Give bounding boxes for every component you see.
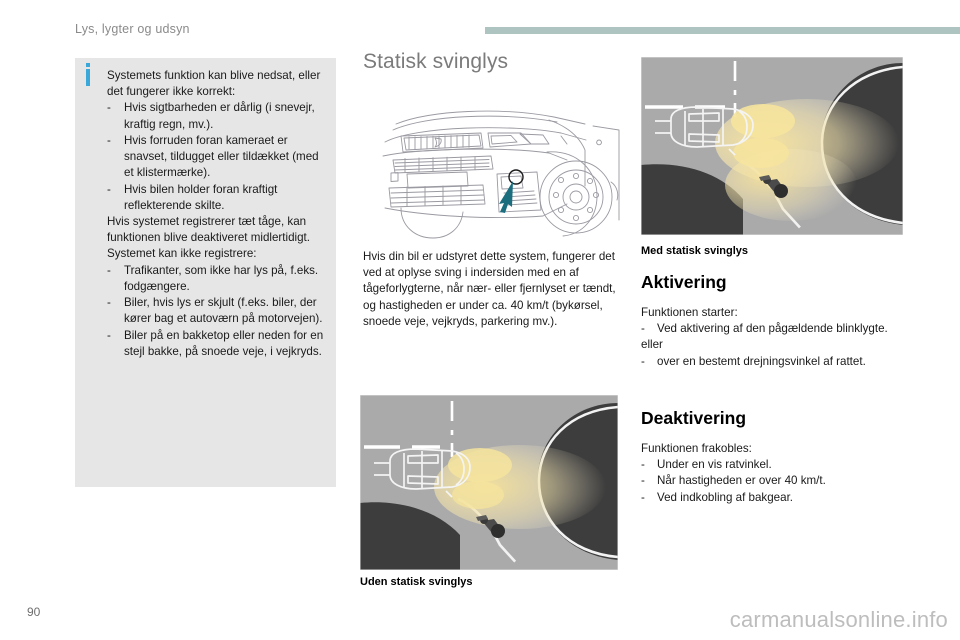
aktivering-connector: eller — [641, 337, 931, 353]
bullet-dash: - — [107, 263, 124, 295]
figure-caption-uden: Uden statisk svinglys — [360, 576, 473, 588]
list-item-label: Trafikanter, som ikke har lys på, f.eks.… — [124, 263, 324, 295]
middle-paragraph: Hvis din bil er udstyret dette system, f… — [363, 249, 621, 330]
bullet-dash: - — [641, 457, 657, 473]
deaktivering-intro: Funktionen frakobles: — [641, 441, 931, 457]
bullet-dash: - — [107, 100, 124, 132]
bullet-dash: - — [641, 321, 657, 337]
bullet-dash: - — [107, 295, 124, 327]
chapter-title: Lys, lygter og udsyn — [75, 22, 190, 36]
deaktivering-body: Funktionen frakobles: - Under en vis rat… — [641, 441, 931, 506]
info-note-text: Systemets funktion kan blive nedsat, ell… — [107, 68, 324, 360]
list-item-label: Hvis bilen holder foran kraftigt reflekt… — [124, 182, 324, 214]
list-item-label: Hvis forruden foran kameraet er snavset,… — [124, 133, 324, 182]
heading-aktivering: Aktivering — [641, 272, 727, 293]
list-item: - Under en vis ratvinkel. — [641, 457, 931, 473]
car-front-line-drawing-icon — [371, 100, 621, 240]
info-icon-dot — [86, 63, 90, 67]
list-item: - Biler på en bakketop eller neden for e… — [107, 328, 324, 360]
list-item-label: Når hastigheden er over 40 km/t. — [657, 473, 931, 489]
list-item-label: Ved aktivering af den pågældende blinkly… — [657, 321, 931, 337]
figure-uden-statisk-svinglys — [360, 395, 618, 570]
bullet-dash: - — [641, 354, 657, 370]
bullet-dash: - — [107, 182, 124, 214]
list-item: - Ved indkobling af bakgear. — [641, 490, 931, 506]
list-item: - Hvis forruden foran kameraet er snavse… — [107, 133, 324, 182]
list-item: - Ved aktivering af den pågældende blink… — [641, 321, 931, 337]
list-item-label: Biler, hvis lys er skjult (f.eks. biler,… — [124, 295, 324, 327]
page-number: 90 — [27, 605, 40, 619]
figure-caption-med: Med statisk svinglys — [641, 245, 748, 257]
list-item-label: Under en vis ratvinkel. — [657, 457, 931, 473]
overhead-road-scene-without-cornering-light-icon — [360, 395, 618, 570]
aktivering-intro: Funktionen starter: — [641, 305, 931, 321]
heading-deaktivering: Deaktivering — [641, 408, 746, 429]
list-item: - Hvis sigtbarheden er dårlig (i snevejr… — [107, 100, 324, 132]
manual-page: Lys, lygter og udsyn Systemets funktion … — [0, 0, 960, 640]
list-item-label: Ved indkobling af bakgear. — [657, 490, 931, 506]
list-item: - over en bestemt drejningsvinkel af rat… — [641, 354, 931, 370]
info-middle-2: Systemet kan ikke registrere: — [107, 246, 324, 262]
middle-body-text: Hvis din bil er udstyret dette system, f… — [363, 249, 621, 330]
info-note-box: Systemets funktion kan blive nedsat, ell… — [75, 58, 336, 487]
info-middle-1: Hvis systemet registrerer tæt tåge, kan … — [107, 214, 324, 246]
info-icon — [86, 69, 90, 86]
list-item: - Trafikanter, som ikke har lys på, f.ek… — [107, 263, 324, 295]
figure-med-statisk-svinglys — [641, 57, 903, 235]
bullet-dash: - — [107, 328, 124, 360]
section-heading-statisk-svinglys: Statisk svinglys — [363, 50, 508, 74]
overhead-road-scene-with-cornering-light-icon — [641, 57, 903, 235]
bullet-dash: - — [641, 473, 657, 489]
aktivering-body: Funktionen starter: - Ved aktivering af … — [641, 305, 931, 370]
bullet-dash: - — [107, 133, 124, 182]
list-item: - Hvis bilen holder foran kraftigt refle… — [107, 182, 324, 214]
middle-column: Statisk svinglys — [363, 0, 621, 640]
list-item-label: over en bestemt drejningsvinkel af ratte… — [657, 354, 931, 370]
watermark: carmanualsonline.info — [730, 607, 948, 633]
bullet-dash: - — [641, 490, 657, 506]
info-intro: Systemets funktion kan blive nedsat, ell… — [107, 68, 324, 100]
list-item: - Biler, hvis lys er skjult (f.eks. bile… — [107, 295, 324, 327]
list-item: - Når hastigheden er over 40 km/t. — [641, 473, 931, 489]
right-column: Med statisk svinglys Aktivering Funktion… — [641, 0, 931, 640]
list-item-label: Hvis sigtbarheden er dårlig (i snevejr, … — [124, 100, 324, 132]
list-item-label: Biler på en bakketop eller neden for en … — [124, 328, 324, 360]
